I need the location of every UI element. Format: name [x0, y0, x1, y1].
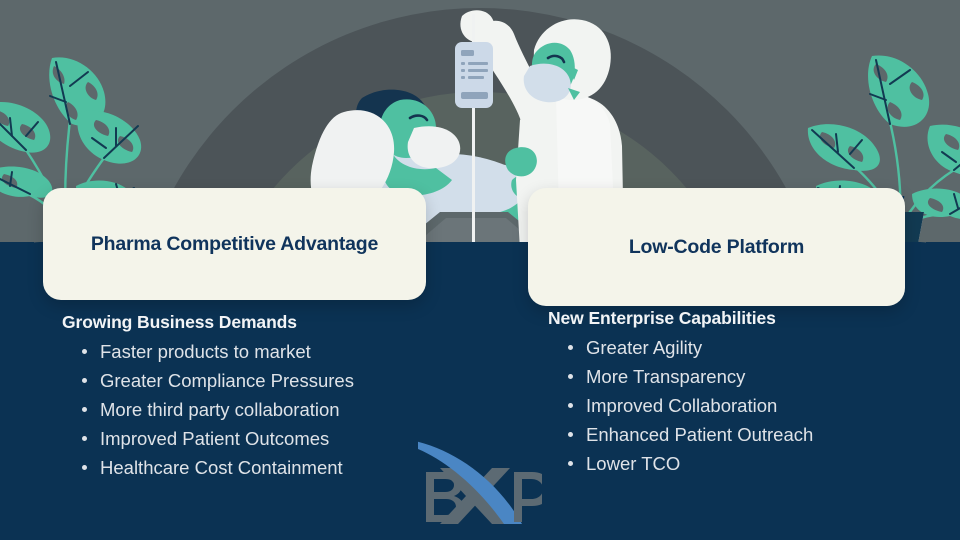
right-column-heading: New Enterprise Capabilities	[548, 308, 948, 329]
right-bullet-list: Greater Agility More Transparency Improv…	[548, 333, 948, 478]
card-pharma-competitive-advantage[interactable]: Pharma Competitive Advantage	[43, 188, 426, 300]
slide-root: Pharma Competitive Advantage Low-Code Pl…	[0, 0, 960, 540]
left-column-heading: Growing Business Demands	[62, 312, 462, 333]
column-new-enterprise-capabilities: New Enterprise Capabilities Greater Agil…	[548, 308, 948, 478]
navy-panel-left-edge	[0, 242, 34, 540]
list-item: Improved Patient Outcomes	[62, 424, 462, 453]
list-item: Lower TCO	[548, 449, 948, 478]
card-low-code-platform[interactable]: Low-Code Platform	[528, 188, 905, 306]
list-item: Greater Compliance Pressures	[62, 366, 462, 395]
card-left-title: Pharma Competitive Advantage	[91, 233, 378, 256]
list-item: Greater Agility	[548, 333, 948, 362]
card-right-title: Low-Code Platform	[629, 236, 804, 259]
column-growing-business-demands: Growing Business Demands Faster products…	[62, 312, 462, 482]
list-item: More third party collaboration	[62, 395, 462, 424]
list-item: More Transparency	[548, 362, 948, 391]
list-item: Faster products to market	[62, 337, 462, 366]
list-item: Improved Collaboration	[548, 391, 948, 420]
list-item: Healthcare Cost Containment	[62, 453, 462, 482]
left-bullet-list: Faster products to market Greater Compli…	[62, 337, 462, 482]
list-item: Enhanced Patient Outreach	[548, 420, 948, 449]
